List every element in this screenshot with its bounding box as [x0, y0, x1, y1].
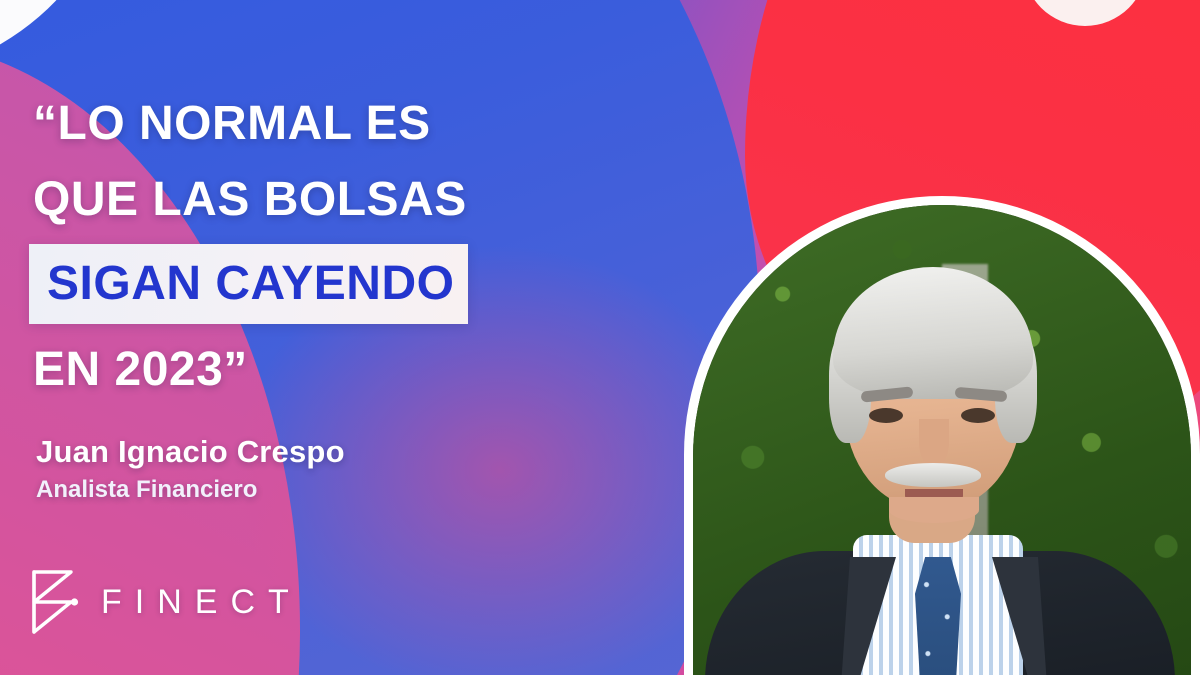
portrait-photo [693, 205, 1191, 675]
hair [833, 267, 1033, 399]
finect-wordmark: FINECT [101, 583, 302, 622]
quote-headline: “LO NORMAL ES QUE LAS BOLSAS SIGAN CAYEN… [33, 86, 693, 408]
speaker-name: Juan Ignacio Crespo [36, 434, 345, 470]
moustache [885, 463, 981, 487]
eye-right [961, 408, 995, 423]
jacket-lapel-right [958, 557, 1052, 675]
headline-line-1: “LO NORMAL ES [33, 86, 693, 162]
portrait-figure [693, 205, 1191, 675]
headline-line-2: QUE LAS BOLSAS [33, 162, 693, 238]
necktie [915, 557, 961, 675]
headline-line-4: EN 2023” [33, 332, 693, 408]
headline-line-3-highlighted: SIGAN CAYENDO [29, 244, 468, 324]
nose [919, 419, 949, 467]
quote-card: “LO NORMAL ES QUE LAS BOLSAS SIGAN CAYEN… [0, 0, 1200, 675]
eye-left [869, 408, 903, 423]
chin [889, 497, 979, 523]
finect-logo: FINECT [27, 566, 302, 638]
jacket-lapel-left [836, 557, 930, 675]
speaker-role: Analista Financiero [36, 476, 345, 504]
finect-diamond-logo-icon [27, 566, 79, 638]
portrait [684, 196, 1200, 675]
speaker-block: Juan Ignacio Crespo Analista Financiero [36, 434, 345, 504]
